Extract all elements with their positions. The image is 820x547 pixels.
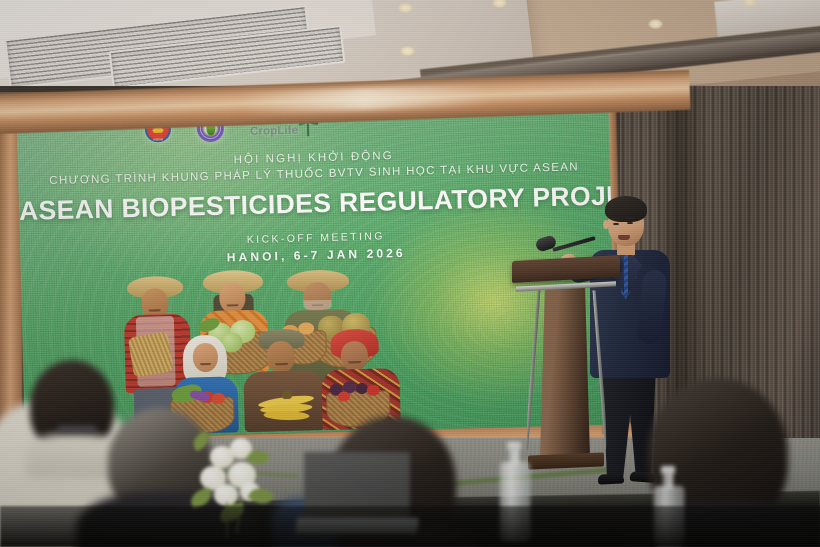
croplife-wordmark: CropLife [250,125,298,138]
podium-top [512,255,620,283]
lanyard [58,426,96,432]
downlight-icon [400,46,415,56]
downlight-icon [648,19,663,29]
croplife-sublabel: ASIA [260,137,269,140]
asean-logo-label: ASEAN [145,138,171,142]
conference-photo: ASEAN CropLife ASIA HỘI NGHỊ KHỞI ĐỘNG C… [0,0,820,547]
microphone-icon [536,236,598,254]
speaker-ear [603,220,609,229]
foreground-shadow [0,506,820,547]
speaker-mouth [618,235,630,240]
downlight-icon [398,3,413,13]
speaker-brow-right [626,217,635,219]
speaker-brow-left [612,218,621,220]
